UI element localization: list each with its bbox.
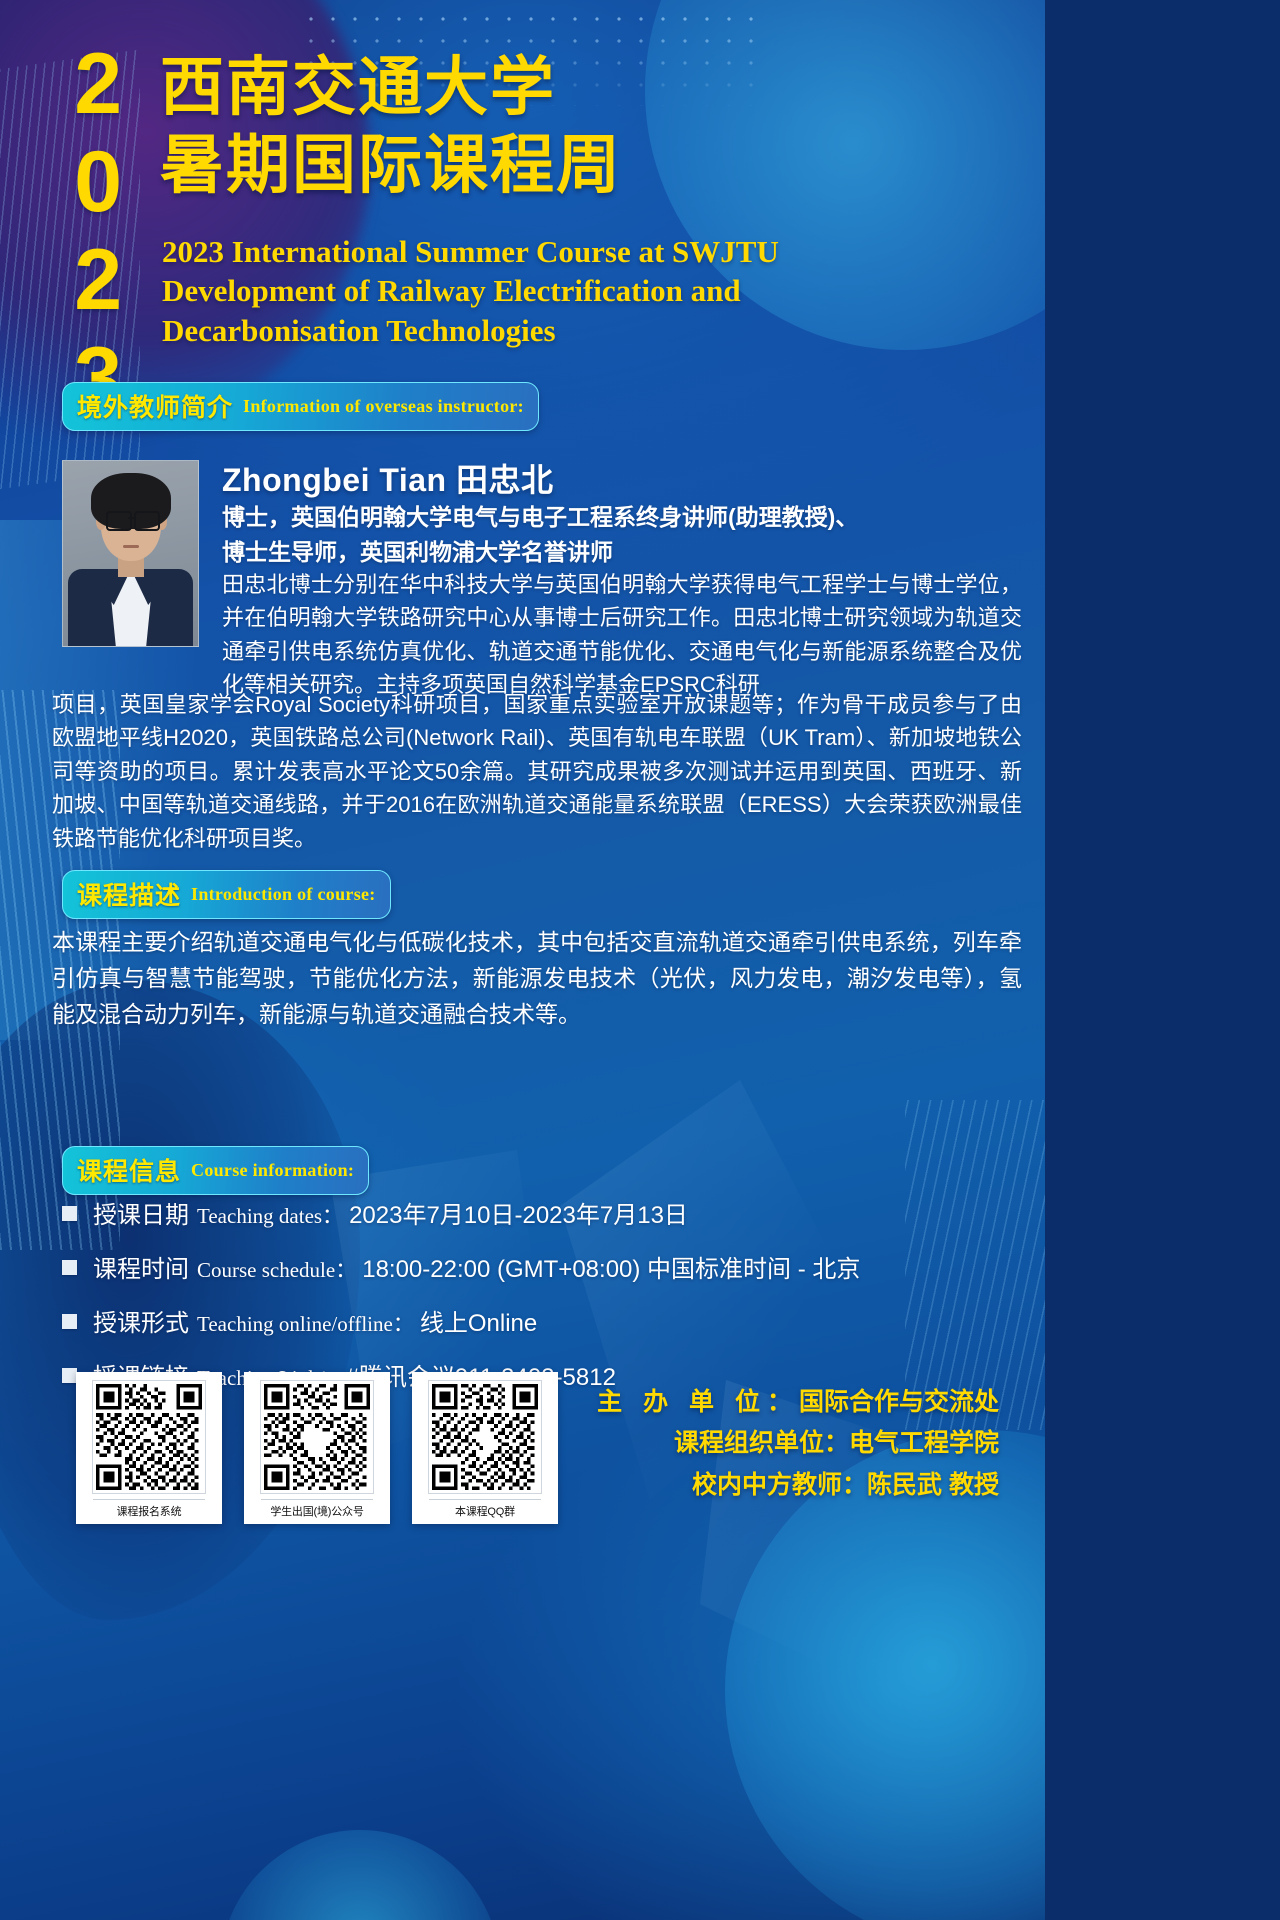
course-info-label-en: Teaching dates： xyxy=(197,1200,343,1230)
qr-caption: 本课程QQ群 xyxy=(429,1499,541,1519)
section-banner-instructor-cn: 境外教师简介 xyxy=(77,388,233,424)
section-banner-instructor-en: Information of overseas instructor: xyxy=(243,396,524,417)
course-info-value: 线上Online xyxy=(420,1303,537,1338)
organizer-value: 陈民武 教授 xyxy=(867,1471,999,1499)
instructor-photo xyxy=(62,460,199,647)
square-bullet-icon xyxy=(62,1260,77,1275)
instructor-subtitle-line-1: 博士，英国伯明翰大学电气与电子工程系终身讲师(助理教授)、 xyxy=(222,500,1022,535)
section-banner-course-info: 课程信息 Course information: xyxy=(62,1146,369,1195)
course-info-label-en: Course schedule： xyxy=(197,1254,356,1284)
organizer-block: 主 办 单 位：国际合作与交流处 课程组织单位：电气工程学院 校内中方教师：陈民… xyxy=(597,1382,999,1506)
photo-glasses-bridge xyxy=(128,517,134,519)
qr-frame xyxy=(92,1380,206,1494)
qr-card-registration[interactable]: 课程报名系统 xyxy=(76,1372,222,1524)
page-title-english: 2023 International Summer Course at SWJT… xyxy=(162,232,1022,350)
course-info-label-en: Teaching online/offline： xyxy=(197,1308,414,1338)
list-item: 授课日期 Teaching dates： 2023年7月10日-2023年7月1… xyxy=(62,1195,1002,1230)
list-item: 授课形式 Teaching online/offline： 线上Online xyxy=(62,1303,1002,1338)
section-banner-instructor: 境外教师简介 Information of overseas instructo… xyxy=(62,382,539,431)
section-banner-course-intro-cn: 课程描述 xyxy=(77,876,181,912)
organizer-label: 主 办 单 位： xyxy=(597,1388,799,1416)
photo-mouth xyxy=(123,545,139,548)
section-banner-course-intro: 课程描述 Introduction of course: xyxy=(62,870,391,919)
square-bullet-icon xyxy=(62,1368,77,1383)
instructor-subtitle: 博士，英国伯明翰大学电气与电子工程系终身讲师(助理教授)、 博士生导师，英国利物… xyxy=(222,500,1022,570)
square-bullet-icon xyxy=(62,1314,77,1329)
poster-year: 2023 xyxy=(58,36,137,428)
section-banner-course-info-en: Course information: xyxy=(191,1160,354,1181)
title-en-line-1: 2023 International Summer Course at SWJT… xyxy=(162,232,1022,271)
instructor-bio-continued: 项目，英国皇家学会Royal Society科研项目，国家重点实验室开放课题等；… xyxy=(52,688,1022,855)
cyan-circle-decoration-bottom-left xyxy=(220,1830,500,1920)
qr-frame xyxy=(260,1380,374,1494)
section-banner-course-intro-en: Introduction of course: xyxy=(191,884,376,905)
qr-frame xyxy=(428,1380,542,1494)
organizer-row: 主 办 单 位：国际合作与交流处 xyxy=(597,1382,999,1423)
instructor-name: Zhongbei Tian 田忠北 xyxy=(222,455,553,501)
square-bullet-icon xyxy=(62,1206,77,1221)
title-cn-line-2: 暑期国际课程周 xyxy=(160,126,920,204)
course-info-label-cn: 课程时间 xyxy=(93,1249,189,1284)
course-info-value: 2023年7月10日-2023年7月13日 xyxy=(349,1195,688,1230)
organizer-row: 课程组织单位：电气工程学院 xyxy=(597,1423,999,1464)
qr-caption: 课程报名系统 xyxy=(93,1499,205,1519)
title-en-line-2: Development of Railway Electrification a… xyxy=(162,271,1022,310)
organizer-value: 国际合作与交流处 xyxy=(799,1388,999,1416)
photo-glasses-left xyxy=(106,511,132,531)
qr-card-qq-group[interactable]: 本课程QQ群 xyxy=(412,1372,558,1524)
qr-caption: 学生出国(境)公众号 xyxy=(261,1499,373,1519)
section-banner-course-info-cn: 课程信息 xyxy=(77,1152,181,1188)
title-en-line-3: Decarbonisation Technologies xyxy=(162,311,1022,350)
qr-code-icon xyxy=(96,1384,202,1490)
page-title-chinese: 西南交通大学 暑期国际课程周 xyxy=(160,48,920,204)
course-info-label-cn: 授课日期 xyxy=(93,1195,189,1230)
instructor-bio-indented: 田忠北博士分别在华中科技大学与英国伯明翰大学获得电气工程学士与博士学位，并在伯明… xyxy=(222,568,1022,702)
poster-root: 2023 西南交通大学 暑期国际课程周 2023 International S… xyxy=(0,0,1045,1920)
qr-code-icon xyxy=(432,1384,538,1490)
qr-code-group: 课程报名系统 xyxy=(76,1372,558,1524)
organizer-row: 校内中方教师：陈民武 教授 xyxy=(597,1465,999,1506)
organizer-label: 课程组织单位： xyxy=(674,1429,849,1457)
qr-card-student-abroad[interactable]: 学生出国(境)公众号 xyxy=(244,1372,390,1524)
title-cn-line-1: 西南交通大学 xyxy=(160,48,920,126)
organizer-label: 校内中方教师： xyxy=(692,1471,867,1499)
photo-glasses-right xyxy=(134,511,160,531)
course-description-text: 本课程主要介绍轨道交通电气化与低碳化技术，其中包括交直流轨道交通牵引供电系统，列… xyxy=(52,925,1022,1033)
course-info-value: 18:00-22:00 (GMT+08:00) 中国标准时间 - 北京 xyxy=(362,1249,860,1284)
list-item: 课程时间 Course schedule： 18:00-22:00 (GMT+0… xyxy=(62,1249,1002,1284)
qr-code-icon xyxy=(264,1384,370,1490)
course-info-label-cn: 授课形式 xyxy=(93,1303,189,1338)
organizer-value: 电气工程学院 xyxy=(849,1429,999,1457)
instructor-subtitle-line-2: 博士生导师，英国利物浦大学名誉讲师 xyxy=(222,535,1022,570)
